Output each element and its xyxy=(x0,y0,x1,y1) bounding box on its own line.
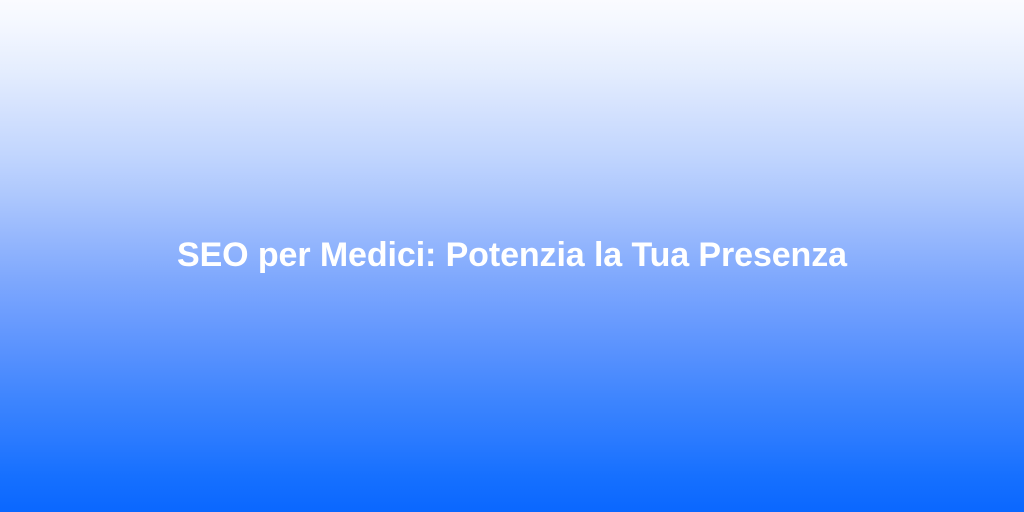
hero-banner: SEO per Medici: Potenzia la Tua Presenza xyxy=(0,0,1024,512)
hero-content: SEO per Medici: Potenzia la Tua Presenza xyxy=(0,234,1024,277)
page-title: SEO per Medici: Potenzia la Tua Presenza xyxy=(40,234,984,277)
